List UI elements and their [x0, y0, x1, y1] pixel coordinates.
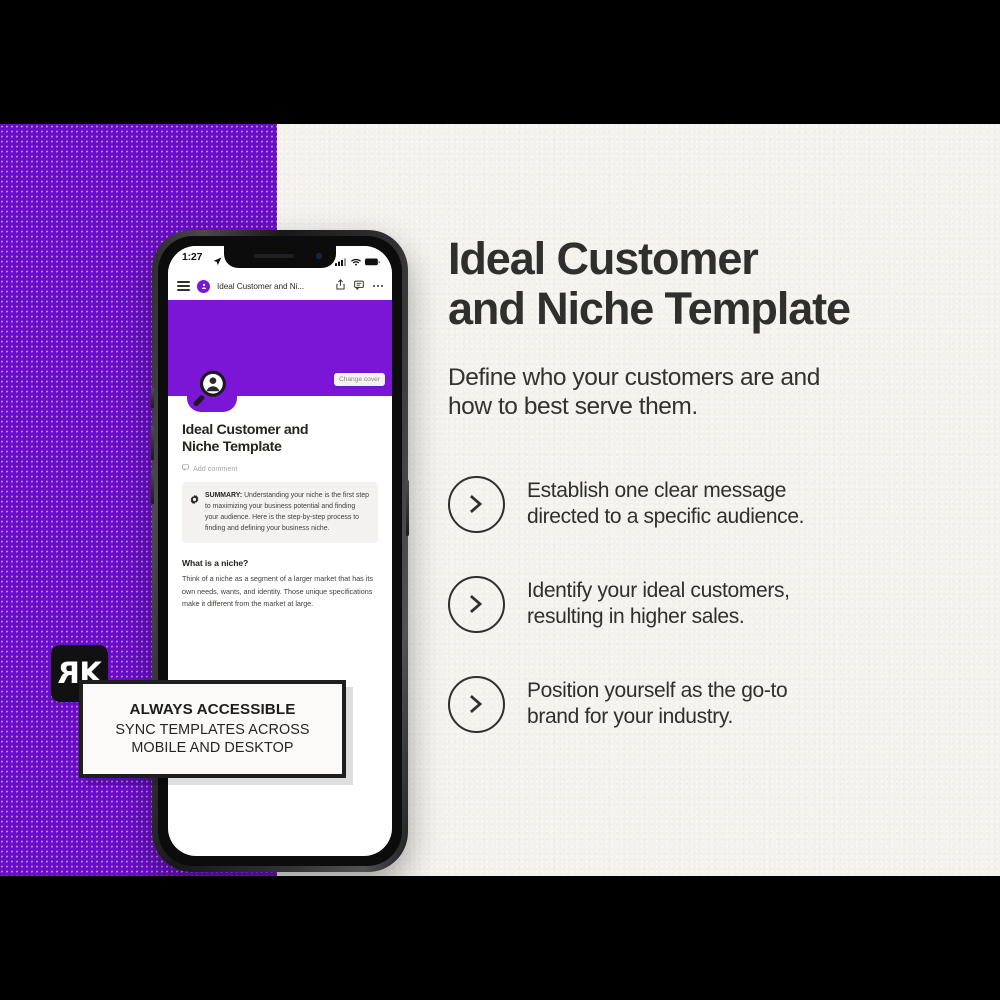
- power-button[interactable]: [406, 480, 409, 536]
- section-paragraph: Think of a niche as a segment of a large…: [182, 573, 378, 610]
- add-comment-label: Add comment: [193, 464, 237, 473]
- list-item-label: Identify your ideal customers, resulting…: [527, 578, 790, 631]
- status-time: 1:27: [182, 251, 202, 263]
- breadcrumb[interactable]: Ideal Customer and Ni...: [217, 282, 304, 291]
- battery-full-icon: [365, 253, 380, 271]
- chevron-right-icon: [448, 576, 505, 633]
- add-comment-button[interactable]: Add comment: [182, 464, 378, 473]
- wifi-icon: [351, 253, 361, 271]
- content-band: Ideal Customer and Niche Template Define…: [0, 124, 1000, 876]
- callout-label: SUMMARY:: [205, 492, 242, 499]
- page-avatar-icon: [197, 280, 210, 293]
- chevron-right-icon: [448, 476, 505, 533]
- front-camera-icon: [316, 253, 322, 259]
- subheadline-line-1: Define who your customers are and: [448, 364, 918, 393]
- app-toolbar: Ideal Customer and Ni...: [168, 272, 392, 300]
- bullet-2-line-1: Identify your ideal customers,: [527, 578, 790, 604]
- list-item: Position yourself as the go-to brand for…: [448, 654, 948, 754]
- subheadline: Define who your customers are and how to…: [448, 364, 918, 422]
- list-item: Establish one clear message directed to …: [448, 454, 948, 554]
- feature-caption-card: ALWAYS ACCESSIBLE SYNC TEMPLATES ACROSS …: [79, 680, 346, 778]
- comment-icon: [182, 464, 189, 473]
- volume-up-button[interactable]: [151, 426, 154, 460]
- benefit-list: Establish one clear message directed to …: [448, 454, 948, 754]
- magnifier-person-icon[interactable]: [187, 362, 237, 412]
- notion-title-line-1: Ideal Customer and: [182, 422, 378, 439]
- volume-down-button[interactable]: [151, 470, 154, 504]
- speaker-grille: [254, 254, 294, 258]
- comment-icon[interactable]: [354, 277, 364, 295]
- text-column: Ideal Customer and Niche Template Define…: [448, 124, 948, 876]
- status-indicators: [335, 253, 380, 271]
- notch: [224, 246, 336, 268]
- section-heading: What is a niche?: [182, 558, 378, 568]
- toolbar-actions: [336, 277, 383, 295]
- bullet-3-line-1: Position yourself as the go-to: [527, 678, 787, 704]
- callout-block[interactable]: SUMMARY: Understanding your niche is the…: [182, 482, 378, 544]
- caption-title: ALWAYS ACCESSIBLE: [130, 701, 296, 718]
- cellular-bars-icon: [335, 253, 347, 271]
- status-bar: 1:27: [168, 246, 392, 272]
- bullet-1-line-2: directed to a specific audience.: [527, 504, 804, 530]
- caption-subtitle-line-1: SYNC TEMPLATES ACROSS: [115, 721, 309, 739]
- list-item-label: Establish one clear message directed to …: [527, 478, 804, 531]
- location-arrow-icon: [213, 253, 222, 271]
- hamburger-menu-icon[interactable]: [177, 281, 190, 292]
- subheadline-line-2: how to best serve them.: [448, 393, 918, 422]
- list-item-label: Position yourself as the go-to brand for…: [527, 678, 787, 731]
- bullet-1-line-1: Establish one clear message: [527, 478, 804, 504]
- headline-line-2: and Niche Template: [448, 284, 948, 334]
- caption-subtitle-line-2: MOBILE AND DESKTOP: [115, 739, 309, 757]
- page-cover[interactable]: Change cover: [168, 300, 392, 396]
- change-cover-button[interactable]: Change cover: [334, 373, 385, 386]
- callout-text: SUMMARY: Understanding your niche is the…: [205, 490, 369, 535]
- list-item: Identify your ideal customers, resulting…: [448, 554, 948, 654]
- notion-title-line-2: Niche Template: [182, 439, 378, 456]
- headline-line-1: Ideal Customer: [448, 234, 948, 284]
- share-icon[interactable]: [336, 277, 345, 295]
- chevron-right-icon: [448, 676, 505, 733]
- bullet-2-line-2: resulting in higher sales.: [527, 604, 790, 630]
- page-title: Ideal Customer and Niche Template: [448, 234, 948, 335]
- caption-subtitle: SYNC TEMPLATES ACROSS MOBILE AND DESKTOP: [115, 721, 309, 758]
- bullet-3-line-2: brand for your industry.: [527, 704, 787, 730]
- slide-canvas: Ideal Customer and Niche Template Define…: [0, 0, 1000, 1000]
- notion-page-title[interactable]: Ideal Customer and Niche Template: [182, 422, 378, 457]
- more-options-icon[interactable]: [373, 285, 383, 287]
- page-content: Ideal Customer and Niche Template Add co…: [168, 396, 392, 611]
- silent-switch[interactable]: [151, 388, 154, 408]
- brand-logo-mirrored-r: R: [58, 659, 80, 688]
- gear-icon: [190, 491, 199, 535]
